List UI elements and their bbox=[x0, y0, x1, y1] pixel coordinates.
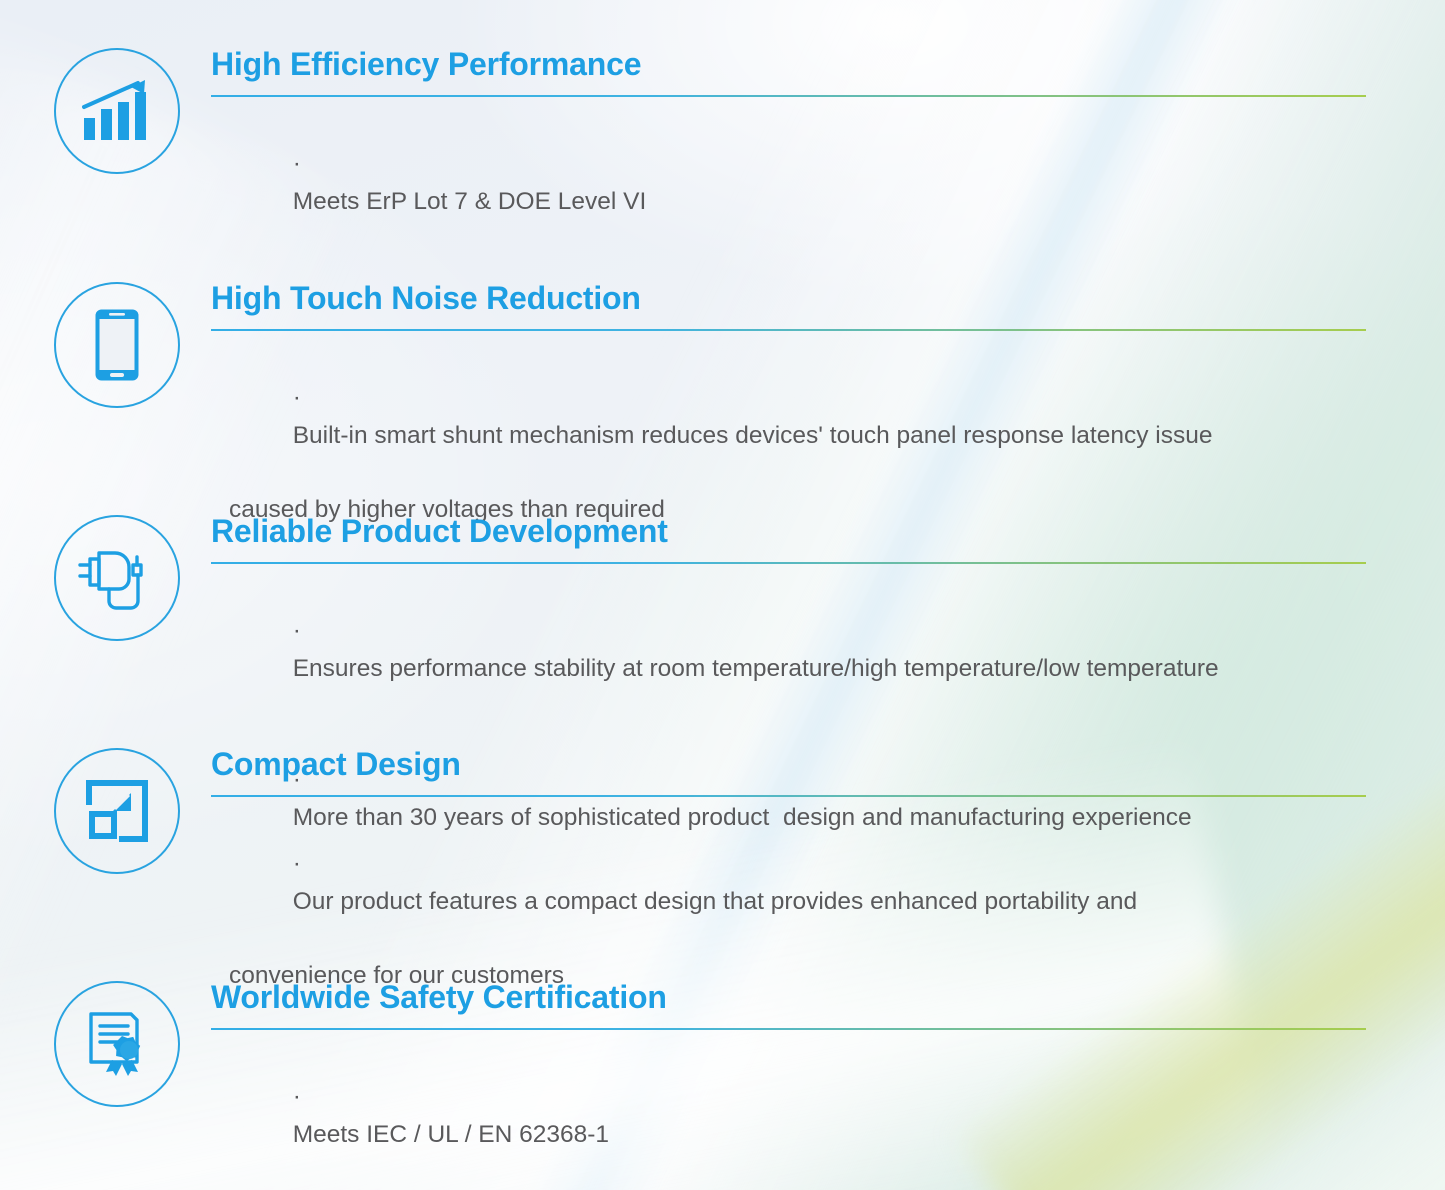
bullet-text: Built-in smart shunt mechanism reduces d… bbox=[293, 422, 1213, 449]
bullet-text: Meets IEC / UL / EN 62368-1 bbox=[293, 1121, 609, 1148]
feature-body: Worldwide Safety Certification · Meets I… bbox=[211, 981, 1371, 1190]
feature-title: Reliable Product Development bbox=[211, 515, 1371, 549]
bullet-marker: · bbox=[293, 1083, 308, 1110]
bullet-marker: · bbox=[293, 150, 308, 177]
feature-icon-wrapper bbox=[54, 748, 180, 874]
feature-icon-wrapper bbox=[54, 48, 180, 174]
feature-bullet: · Meets IEC / UL / EN 62368-1 bbox=[211, 1041, 1371, 1190]
feature-divider bbox=[211, 95, 1366, 98]
feature-bullet: · Ensures performance stability at room … bbox=[211, 575, 1371, 724]
bullet-marker: · bbox=[293, 384, 308, 411]
feature-icon-wrapper bbox=[54, 282, 180, 408]
bullet-marker: · bbox=[293, 617, 308, 644]
feature-title: Compact Design bbox=[211, 748, 1371, 782]
feature-divider bbox=[211, 795, 1366, 798]
certificate-seal-icon bbox=[54, 981, 180, 1107]
feature-highlights-page: High Efficiency Performance · Meets ErP … bbox=[0, 0, 1445, 1190]
power-adapter-icon bbox=[54, 515, 180, 641]
feature-divider bbox=[211, 329, 1366, 332]
feature-bullets: · Meets ErP Lot 7 & DOE Level VI bbox=[211, 108, 1371, 257]
feature-icon-wrapper bbox=[54, 981, 180, 1107]
bar-chart-growth-icon bbox=[54, 48, 180, 174]
feature-title: High Touch Noise Reduction bbox=[211, 282, 1371, 316]
feature-title: High Efficiency Performance bbox=[211, 48, 1371, 82]
feature-title: Worldwide Safety Certification bbox=[211, 981, 1371, 1015]
feature-divider bbox=[211, 562, 1366, 565]
bullet-text: Meets ErP Lot 7 & DOE Level VI bbox=[293, 188, 647, 215]
feature-list: High Efficiency Performance · Meets ErP … bbox=[0, 0, 1445, 1190]
bullet-text: Our product features a compact design th… bbox=[293, 888, 1137, 915]
feature-bullet: · Meets ErP Lot 7 & DOE Level VI bbox=[211, 108, 1371, 257]
bullet-text: Ensures performance stability at room te… bbox=[293, 655, 1219, 682]
feature-body: High Efficiency Performance · Meets ErP … bbox=[211, 48, 1371, 257]
feature-divider bbox=[211, 1028, 1366, 1031]
smartphone-icon bbox=[54, 282, 180, 408]
compact-resize-icon bbox=[54, 748, 180, 874]
feature-icon-wrapper bbox=[54, 515, 180, 641]
bullet-marker: · bbox=[293, 850, 308, 877]
feature-bullets: · Meets IEC / UL / EN 62368-1 bbox=[211, 1041, 1371, 1190]
